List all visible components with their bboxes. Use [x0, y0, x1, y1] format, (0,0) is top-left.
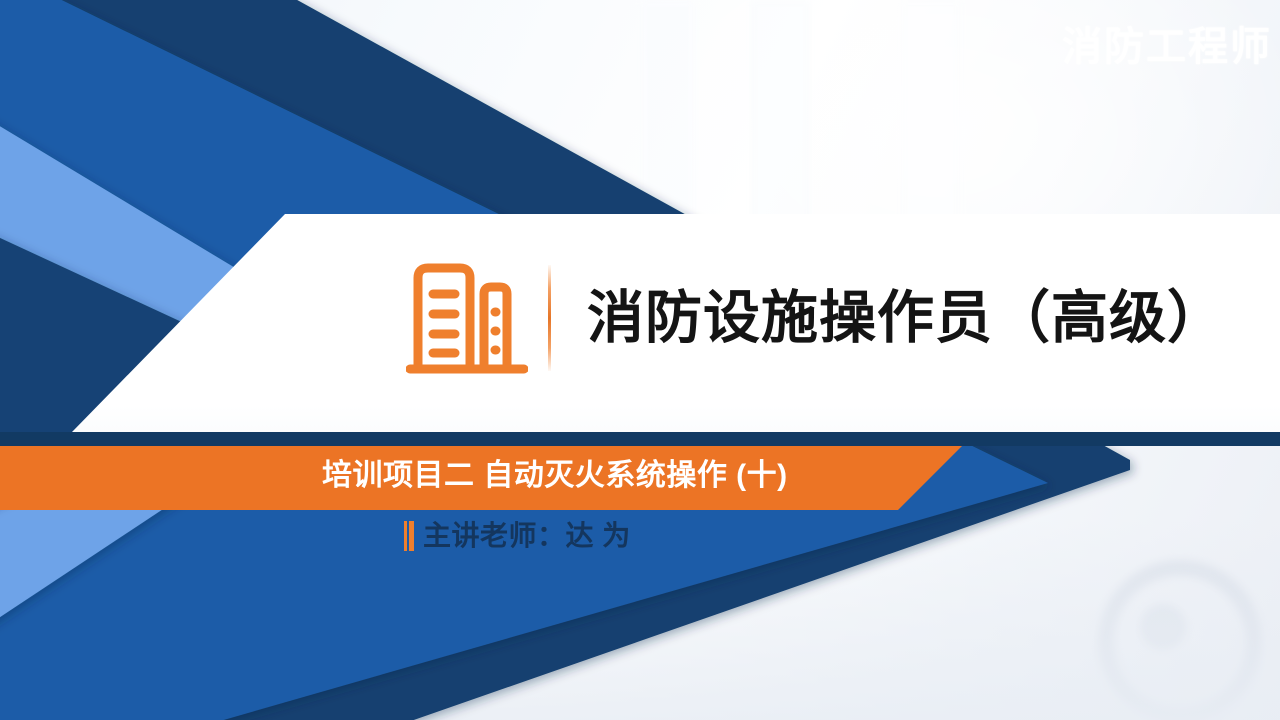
presenter-label: 主讲老师：达 为 [423, 522, 631, 550]
slide-canvas: 消防工程师 [0, 0, 1280, 720]
subtitle-banner-label: 培训项目二 自动灭火系统操作 (十) [322, 458, 788, 494]
title-row: 消防设施操作员（高级） [406, 248, 1225, 388]
presenter-bars-icon [404, 521, 414, 551]
navy-divider-strip [0, 432, 1280, 446]
title-divider [548, 265, 551, 371]
page-title: 消防设施操作员（高级） [587, 290, 1225, 347]
presenter-line: 主讲老师：达 为 [404, 521, 631, 551]
building-icon [406, 256, 528, 380]
